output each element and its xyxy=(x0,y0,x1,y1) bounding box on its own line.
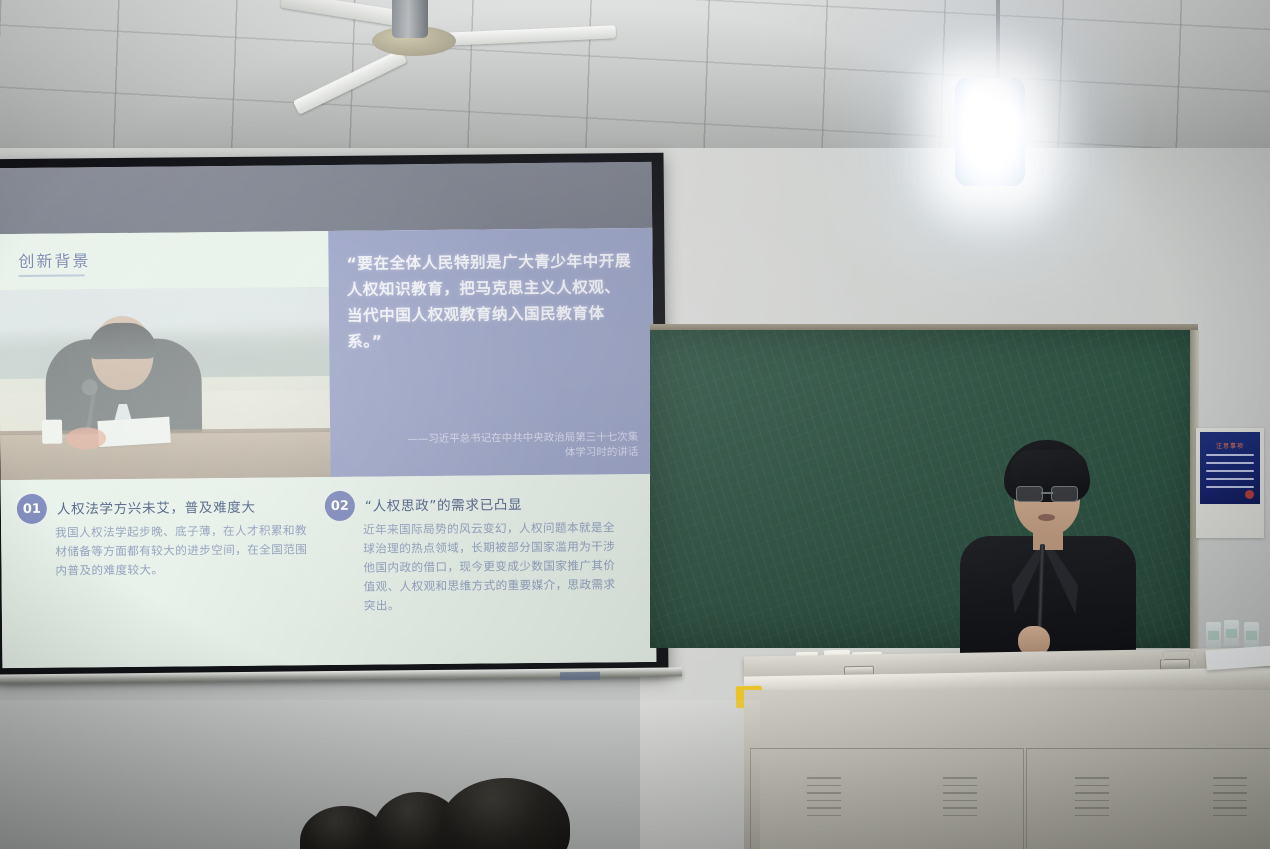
podium-vent xyxy=(943,777,977,822)
ceiling-shading xyxy=(0,0,1270,150)
slide-quote-panel: “要在全体人民特别是广大青少年中开展人权知识教育，把马克思主义人权观、当代中国人… xyxy=(328,228,654,477)
slide-bullet-row: 01 人权法学方兴未艾，普及难度大 我国人权法学起步晚、底子薄，在人才积累和教材… xyxy=(1,474,657,668)
projection-screen-frame: 创新背景 xyxy=(0,153,668,680)
card-body: 我国人权法学起步晚、底子薄，在人才积累和教材储备等方面都有较大的进步空间，在全国… xyxy=(55,521,308,580)
poster-seal-icon xyxy=(1245,490,1254,499)
card-body: 近年来国际局势的风云变幻，人权问题本就是全球治理的热点领域，长期被部分国家滥用为… xyxy=(363,518,616,615)
podium-vent xyxy=(807,777,841,822)
screen-rail-clip xyxy=(560,672,600,680)
projection-screen: 创新背景 xyxy=(0,162,656,668)
podium-cabinet[interactable] xyxy=(744,690,1270,849)
classroom-scene: 创新背景 xyxy=(0,0,1270,849)
slide-photo xyxy=(0,287,331,480)
podium-vent xyxy=(1075,777,1109,822)
speaker-mouth xyxy=(1038,514,1055,521)
lamp-suspension-rod xyxy=(996,0,1000,86)
card-number-badge: 01 xyxy=(17,494,47,524)
fan-motor-hub xyxy=(392,0,428,38)
slide-card-01: 01 人权法学方兴未艾，普及难度大 我国人权法学起步晚、底子薄，在人才积累和教材… xyxy=(11,489,313,658)
speaker-fringe xyxy=(1010,450,1088,484)
quote-text: “要在全体人民特别是广大青少年中开展人权知识教育，把马克思主义人权观、当代中国人… xyxy=(346,248,635,355)
notice-poster: 注意事项 xyxy=(1200,432,1260,504)
podium-door-left[interactable] xyxy=(750,748,1024,849)
eyeglasses-icon xyxy=(1016,486,1078,501)
quote-attribution: ——习近平总书记在中共中央政治局第三十七次集体学习时的讲话 xyxy=(403,430,638,462)
ceiling-fan-icon xyxy=(330,0,630,86)
slide-title-underline xyxy=(19,274,85,277)
ceiling xyxy=(0,0,1270,150)
slide-letterbox-band xyxy=(0,162,652,236)
poster-text-lines xyxy=(1206,454,1254,494)
slide-title: 创新背景 xyxy=(18,247,90,272)
card-title: 人权法学方兴未艾，普及难度大 xyxy=(57,495,307,517)
podium-door-right[interactable] xyxy=(1026,748,1270,849)
slide-card-02: 02 “人权思政”的需求已凸显 近年来国际局势的风云变幻，人权问题本就是全球治理… xyxy=(319,486,621,655)
podium-handle xyxy=(1162,650,1196,666)
presentation-slide: 创新背景 xyxy=(0,228,656,668)
podium-vent xyxy=(1213,777,1247,822)
photo-projector-wash xyxy=(0,287,331,480)
speaker xyxy=(938,440,1154,670)
fluorescent-light-icon xyxy=(955,78,1025,186)
water-bottle xyxy=(1224,620,1239,646)
card-number-badge: 02 xyxy=(325,491,355,521)
card-title: “人权思政”的需求已凸显 xyxy=(365,492,615,514)
poster-title: 注意事项 xyxy=(1200,441,1260,450)
water-bottle xyxy=(1206,622,1221,648)
water-bottle xyxy=(1244,622,1259,648)
